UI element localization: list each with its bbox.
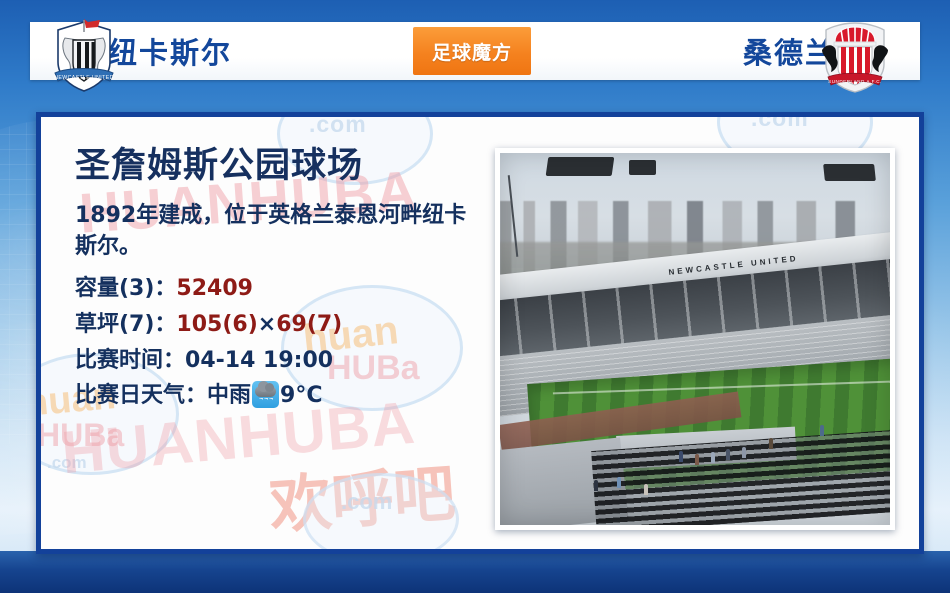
stadium-title: 圣詹姆斯公园球场 (75, 147, 495, 186)
watermark-brand-cn: 欢呼吧 (266, 443, 458, 546)
match-time-value: 04-14 19:00 (185, 348, 333, 373)
watermark-cloud-bottom (303, 473, 459, 554)
home-team-crest-icon: NEWCASTLE UNITED (48, 18, 120, 94)
away-team-crest-icon: SUNDERLAND A.F.C. (818, 20, 892, 94)
pitch-width-value: 69(7) (276, 312, 342, 337)
capacity-value: 52409 (176, 276, 253, 301)
pitch-separator: × (258, 312, 276, 337)
stadium-details: 圣詹姆斯公园球场 1892年建成，位于英格兰泰恩河畔纽卡斯尔。 容量(3)：52… (75, 135, 495, 414)
stadium-info-screen: 纽卡斯尔 足球魔方 桑德兰 NEWCASTLE UNITED (0, 0, 950, 593)
watermark-domain-top-right: .com (751, 112, 809, 132)
svg-text:SUNDERLAND A.F.C.: SUNDERLAND A.F.C. (828, 79, 882, 84)
match-time-label: 比赛时间： (75, 348, 185, 373)
photo-vignette (500, 153, 890, 525)
background-bottom-bar (0, 551, 950, 593)
pitch-size-row: 草坪(7)：105(6)×69(7) (75, 307, 495, 343)
match-time-row: 比赛时间：04-14 19:00 (75, 343, 495, 379)
watermark-domain-left: .com (47, 453, 87, 473)
weather-label: 比赛日天气： (75, 383, 207, 408)
capacity-row: 容量(3)：52409 (75, 271, 495, 307)
watermark-huba-left: HUBa (37, 417, 124, 454)
stadium-info-panel: .com .com HUANHUBA huan HUBa huan HUBa .… (36, 112, 924, 554)
home-team-name: 纽卡斯尔 (108, 30, 232, 72)
match-header-bar: 纽卡斯尔 足球魔方 桑德兰 (30, 22, 920, 80)
weather-row: 比赛日天气：中雨9°C (75, 378, 495, 414)
weather-condition: 中雨 (207, 383, 251, 408)
rain-cloud-icon (252, 381, 279, 408)
pitch-label: 草坪(7)： (75, 312, 176, 337)
pitch-length-value: 105(6) (176, 312, 257, 337)
stadium-photo: NEWCASTLE UNITED (500, 153, 890, 525)
weather-temperature: 9°C (280, 383, 322, 408)
site-logo-label: 足球魔方 (432, 38, 512, 65)
stadium-description: 1892年建成，位于英格兰泰恩河畔纽卡斯尔。 (75, 200, 475, 264)
stadium-photo-frame[interactable]: NEWCASTLE UNITED (495, 148, 895, 530)
svg-text:NEWCASTLE UNITED: NEWCASTLE UNITED (54, 75, 113, 81)
site-logo-badge[interactable]: 足球魔方 (413, 27, 531, 75)
capacity-label: 容量(3)： (75, 276, 176, 301)
watermark-domain-bottom: .com (341, 489, 392, 515)
